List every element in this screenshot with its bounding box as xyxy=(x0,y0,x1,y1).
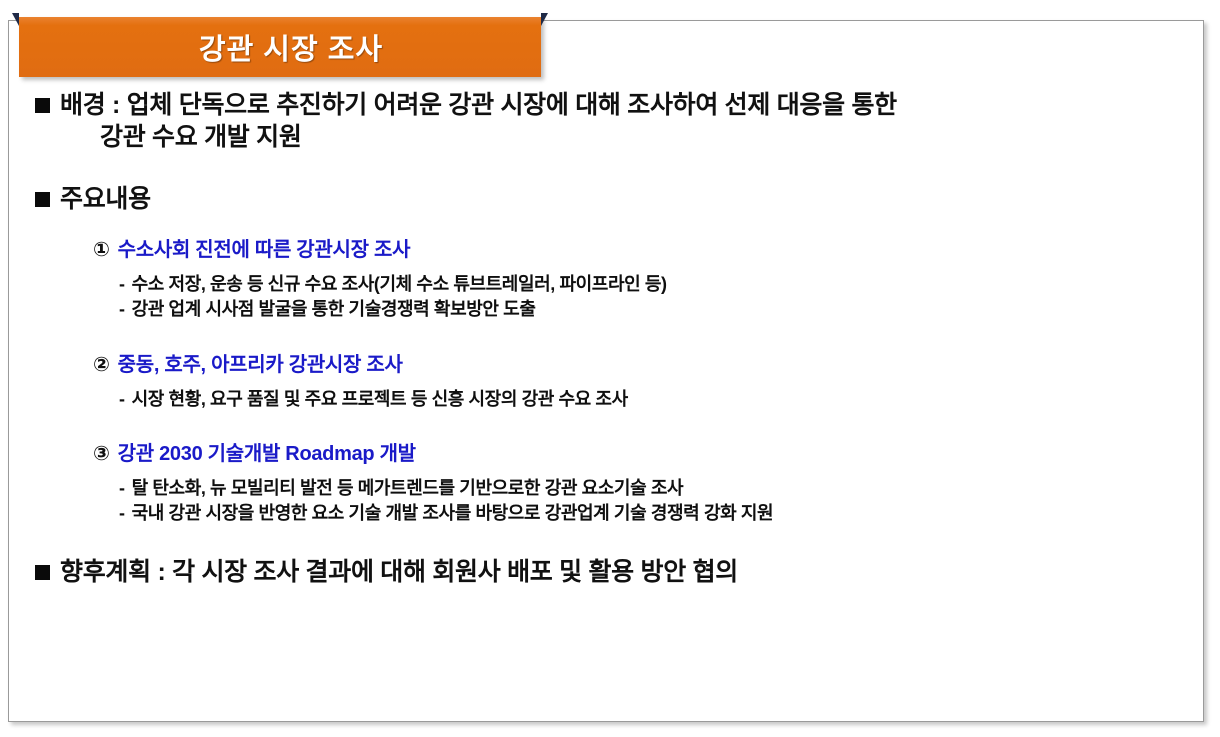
section-background: 배경 : 업체 단독으로 추진하기 어려운 강관 시장에 대해 조사하여 선제 … xyxy=(35,89,1177,153)
numbered-item-3: ③ 강관 2030 기술개발 Roadmap 개발 xyxy=(93,441,1177,467)
spacer xyxy=(35,526,1177,556)
circled-number-1-icon: ① xyxy=(93,237,110,263)
list-item-text: 국내 강관 시장을 반영한 요소 기술 개발 조사를 바탕으로 강관업계 기술 … xyxy=(132,501,1177,526)
list-item: - 강관 업계 시사점 발굴을 통한 기술경쟁력 확보방안 도출 xyxy=(119,297,1177,322)
circled-number-2-icon: ② xyxy=(93,352,110,378)
spacer xyxy=(35,215,1177,237)
section-main-contents-heading: 주요내용 xyxy=(60,183,1177,215)
slide-title: 강관 시장 조사 xyxy=(19,26,541,68)
section-background-text: 배경 : 업체 단독으로 추진하기 어려운 강관 시장에 대해 조사하여 선제 … xyxy=(60,89,1177,153)
numbered-item-3-title: 강관 2030 기술개발 Roadmap 개발 xyxy=(118,441,416,467)
slide-title-banner: 강관 시장 조사 xyxy=(19,17,541,77)
spacer xyxy=(35,153,1177,183)
spacer xyxy=(35,411,1177,441)
dash-bullet-icon: - xyxy=(119,297,125,322)
dash-bullet-icon: - xyxy=(119,272,125,297)
list-item: - 시장 현황, 요구 품질 및 주요 프로젝트 등 신흥 시장의 강관 수요 … xyxy=(119,387,1177,412)
spacer xyxy=(35,322,1177,352)
numbered-item-1-title: 수소사회 진전에 따른 강관시장 조사 xyxy=(118,237,411,263)
square-bullet-icon xyxy=(35,565,50,580)
numbered-item-1: ① 수소사회 진전에 따른 강관시장 조사 xyxy=(93,237,1177,263)
banner-fold-right-icon xyxy=(541,13,548,26)
list-item: - 탈 탄소화, 뉴 모빌리티 발전 등 메가트렌드를 기반으로한 강관 요소기… xyxy=(119,476,1177,501)
numbered-item-2: ② 중동, 호주, 아프리카 강관시장 조사 xyxy=(93,352,1177,378)
dash-bullet-icon: - xyxy=(119,387,125,412)
numbered-item-2-title: 중동, 호주, 아프리카 강관시장 조사 xyxy=(118,352,403,378)
square-bullet-icon xyxy=(35,192,50,207)
section-background-line1: 배경 : 업체 단독으로 추진하기 어려운 강관 시장에 대해 조사하여 선제 … xyxy=(60,91,897,119)
spacer xyxy=(35,263,1177,272)
list-item-text: 강관 업계 시사점 발굴을 통한 기술경쟁력 확보방안 도출 xyxy=(132,297,1177,322)
list-item-text: 탈 탄소화, 뉴 모빌리티 발전 등 메가트렌드를 기반으로한 강관 요소기술 … xyxy=(132,476,1177,501)
banner-fold-left-icon xyxy=(12,13,19,26)
section-future-plan-text: 향후계획 : 각 시장 조사 결과에 대해 회원사 배포 및 활용 방안 협의 xyxy=(60,556,1177,588)
list-item-text: 수소 저장, 운송 등 신규 수요 조사(기체 수소 튜브트레일러, 파이프라인… xyxy=(132,272,1177,297)
list-item: - 수소 저장, 운송 등 신규 수요 조사(기체 수소 튜브트레일러, 파이프… xyxy=(119,272,1177,297)
circled-number-3-icon: ③ xyxy=(93,441,110,467)
spacer xyxy=(35,467,1177,476)
section-future-plan: 향후계획 : 각 시장 조사 결과에 대해 회원사 배포 및 활용 방안 협의 xyxy=(35,556,1177,588)
slide-body: 배경 : 업체 단독으로 추진하기 어려운 강관 시장에 대해 조사하여 선제 … xyxy=(9,89,1203,588)
dash-bullet-icon: - xyxy=(119,476,125,501)
section-background-line2: 강관 수요 개발 지원 xyxy=(60,121,1177,153)
slide-canvas: 강관 시장 조사 배경 : 업체 단독으로 추진하기 어려운 강관 시장에 대해… xyxy=(8,20,1204,722)
list-item-text: 시장 현황, 요구 품질 및 주요 프로젝트 등 신흥 시장의 강관 수요 조사 xyxy=(132,387,1177,412)
section-main-contents: 주요내용 xyxy=(35,183,1177,215)
square-bullet-icon xyxy=(35,98,50,113)
spacer xyxy=(35,378,1177,387)
dash-bullet-icon: - xyxy=(119,501,125,526)
list-item: - 국내 강관 시장을 반영한 요소 기술 개발 조사를 바탕으로 강관업계 기… xyxy=(119,501,1177,526)
